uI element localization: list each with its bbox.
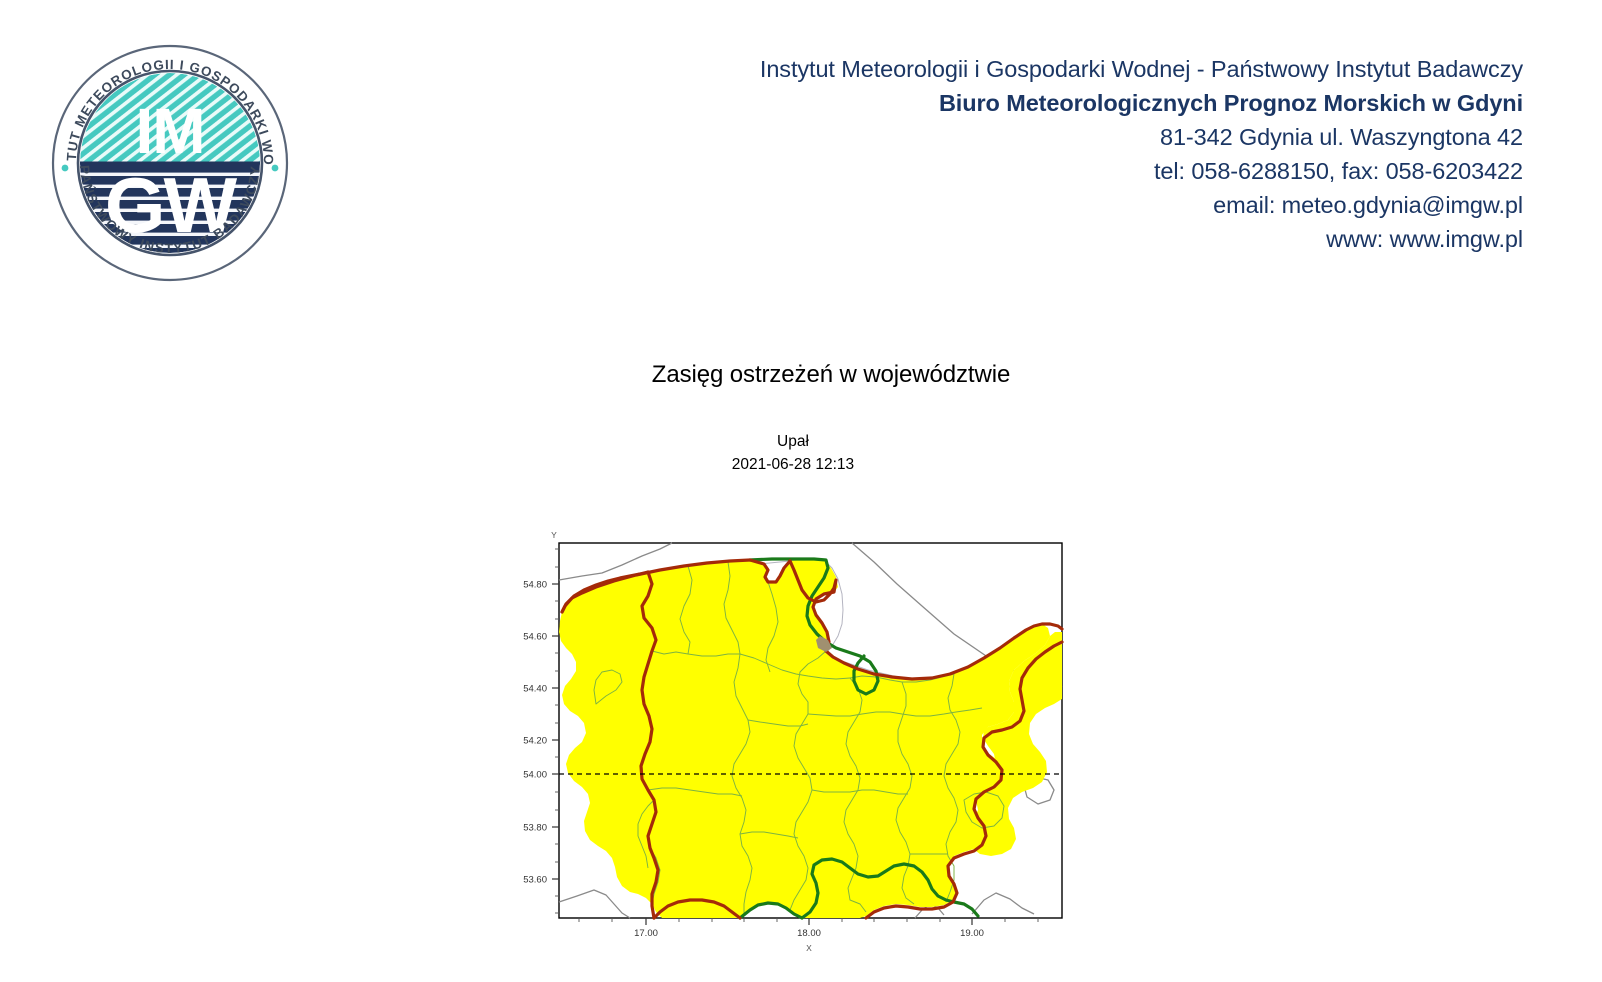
imgw-logo: IM GW INSTYTUT METEOROLOGII I GOSPODARKI… xyxy=(48,36,292,290)
hazard-subtitle-block: Upał 2021-06-28 12:13 xyxy=(0,430,1586,476)
organization-header: Instytut Meteorologii i Gospodarki Wodne… xyxy=(603,52,1523,256)
x-axis: 17.00 18.00 19.00 X xyxy=(579,918,1038,953)
y-axis: Y 54.80 54.60 54.40 54.20 54.00 53.80 53… xyxy=(523,530,559,913)
y-tick-label-5360: 53.60 xyxy=(523,875,547,886)
x-tick-label-1900: 19.00 xyxy=(960,928,984,939)
y-axis-label: Y xyxy=(551,530,557,540)
y-tick-label-5480: 54.80 xyxy=(523,580,547,591)
hazard-timestamp: 2021-06-28 12:13 xyxy=(0,453,1586,476)
x-axis-label: X xyxy=(806,943,812,953)
y-tick-label-5460: 54.60 xyxy=(523,632,547,643)
logo-dot-right xyxy=(272,165,279,172)
warning-extent-map: Y 54.80 54.60 54.40 54.20 54.00 53.80 53… xyxy=(502,524,1082,964)
logo-acronym-im: IM xyxy=(135,95,204,167)
page-title-block: Zasięg ostrzeżeń w województwie xyxy=(0,360,1602,390)
header-line-address: 81-342 Gdynia ul. Waszyngtona 42 xyxy=(603,120,1523,154)
x-tick-label-1700: 17.00 xyxy=(634,928,658,939)
header-line-office: Biuro Meteorologicznych Prognoz Morskich… xyxy=(603,86,1523,120)
x-tick-label-1800: 18.00 xyxy=(797,928,821,939)
y-tick-label-5380: 53.80 xyxy=(523,823,547,834)
imgw-logo-svg: IM GW INSTYTUT METEOROLOGII I GOSPODARKI… xyxy=(48,36,292,290)
hazard-name: Upał xyxy=(0,430,1586,453)
warning-extent-map-svg: Y 54.80 54.60 54.40 54.20 54.00 53.80 53… xyxy=(502,524,1082,964)
y-tick-label-5420: 54.20 xyxy=(523,736,547,747)
page-title: Zasięg ostrzeżeń w województwie xyxy=(0,360,1602,390)
header-line-website: www: www.imgw.pl xyxy=(603,222,1523,256)
y-tick-label-5400: 54.00 xyxy=(523,770,547,781)
logo-dot-left xyxy=(62,165,69,172)
header-line-institute: Instytut Meteorologii i Gospodarki Wodne… xyxy=(603,52,1523,86)
header-line-email: email: meteo.gdynia@imgw.pl xyxy=(603,188,1523,222)
header-line-phone-fax: tel: 058-6288150, fax: 058-6203422 xyxy=(603,154,1523,188)
y-tick-label-5440: 54.40 xyxy=(523,684,547,695)
